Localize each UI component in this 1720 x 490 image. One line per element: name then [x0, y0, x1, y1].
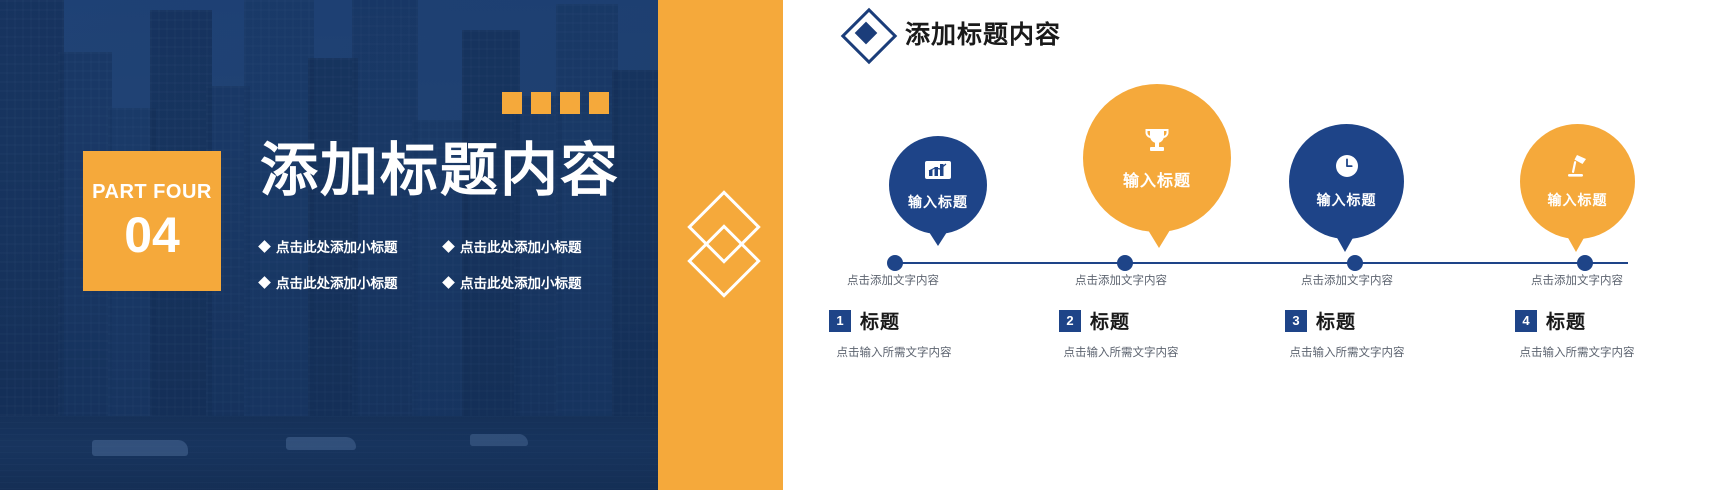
- trophy-icon: [1141, 126, 1173, 161]
- desk-lamp-icon: [1564, 153, 1592, 184]
- number-badge-3: 3: [1285, 310, 1307, 332]
- caption-4: 点击添加文字内容: [1507, 272, 1647, 288]
- sub-caption-3: 点击输入所需文字内容: [1262, 344, 1432, 360]
- square-4: [589, 92, 609, 114]
- sub-caption-2: 点击输入所需文字内容: [1036, 344, 1206, 360]
- clock-icon: [1334, 153, 1360, 184]
- numbered-title-1: 1 标题: [829, 307, 900, 334]
- square-2: [531, 92, 551, 114]
- number-badge-2: 2: [1059, 310, 1081, 332]
- bar-chart-icon: [925, 159, 951, 186]
- bubble-label: 输入标题: [908, 192, 968, 212]
- numbered-title-4: 4 标题: [1515, 307, 1586, 334]
- diamond-bullet-icon: [442, 276, 455, 289]
- list-item: 点击此处添加小标题: [444, 272, 612, 292]
- list-item: 点击此处添加小标题: [260, 272, 428, 292]
- number-title-3: 标题: [1316, 307, 1356, 334]
- part-label: PART FOUR: [92, 182, 212, 202]
- caption-3: 点击添加文字内容: [1277, 272, 1417, 288]
- number-title-4: 标题: [1546, 307, 1586, 334]
- sub-caption-1: 点击输入所需文字内容: [809, 344, 979, 360]
- timeline-node-2: [1117, 255, 1133, 271]
- number-badge-4: 4: [1515, 310, 1537, 332]
- timeline-axis: [893, 262, 1628, 264]
- list-item: 点击此处添加小标题: [260, 236, 428, 256]
- bubble-item-2[interactable]: 输入标题: [1083, 84, 1231, 232]
- bullet-label: 点击此处添加小标题: [276, 272, 398, 292]
- number-title-1: 标题: [860, 307, 900, 334]
- left-photo-panel: PART FOUR 04 添加标题内容 点击此处添加小标题 点击此处添加小标题 …: [0, 0, 658, 490]
- diamond-marker-icon: [845, 12, 887, 54]
- section-header: 添加标题内容: [845, 12, 1061, 54]
- bubble-item-4[interactable]: 输入标题: [1520, 124, 1635, 239]
- bullet-label: 点击此处添加小标题: [460, 236, 582, 256]
- numbered-title-2: 2 标题: [1059, 307, 1130, 334]
- numbered-title-3: 3 标题: [1285, 307, 1356, 334]
- caption-2: 点击添加文字内容: [1051, 272, 1191, 288]
- square-3: [560, 92, 580, 114]
- timeline-node-4: [1577, 255, 1593, 271]
- bubble-label: 输入标题: [1317, 190, 1377, 210]
- diamond-bullet-icon: [442, 240, 455, 253]
- right-content-panel: 添加标题内容 输入标题 点击添加文字内容 1 标题: [783, 0, 1720, 490]
- square-1: [502, 92, 522, 114]
- part-number: 04: [124, 210, 180, 260]
- bubble-item-3[interactable]: 输入标题: [1289, 124, 1404, 239]
- bubble-tail-1: [929, 232, 947, 246]
- orange-squares-decoration: [502, 92, 609, 114]
- caption-1: 点击添加文字内容: [823, 272, 963, 288]
- orange-divider-band: [658, 0, 783, 490]
- timeline-node-1: [887, 255, 903, 271]
- part-number-box: PART FOUR 04: [83, 151, 221, 291]
- section-title: 添加标题内容: [905, 15, 1061, 51]
- bullet-list: 点击此处添加小标题 点击此处添加小标题 点击此处添加小标题 点击此处添加小标题: [260, 236, 612, 292]
- bullet-label: 点击此处添加小标题: [460, 272, 582, 292]
- diamond-bullet-icon: [258, 240, 271, 253]
- bubble-tail-3: [1336, 236, 1354, 252]
- sub-caption-4: 点击输入所需文字内容: [1492, 344, 1662, 360]
- bubble-label: 输入标题: [1123, 167, 1191, 191]
- slide: PART FOUR 04 添加标题内容 点击此处添加小标题 点击此处添加小标题 …: [0, 0, 1720, 490]
- bubble-tail-4: [1567, 236, 1585, 252]
- list-item: 点击此处添加小标题: [444, 236, 612, 256]
- slide-title: 添加标题内容: [260, 142, 620, 200]
- number-title-2: 标题: [1090, 307, 1130, 334]
- bullet-label: 点击此处添加小标题: [276, 236, 398, 256]
- bubble-tail-2: [1148, 230, 1170, 248]
- bubble-item-1[interactable]: 输入标题: [889, 136, 987, 234]
- diamond-bullet-icon: [258, 276, 271, 289]
- number-badge-1: 1: [829, 310, 851, 332]
- bubble-label: 输入标题: [1548, 190, 1608, 210]
- timeline-node-3: [1347, 255, 1363, 271]
